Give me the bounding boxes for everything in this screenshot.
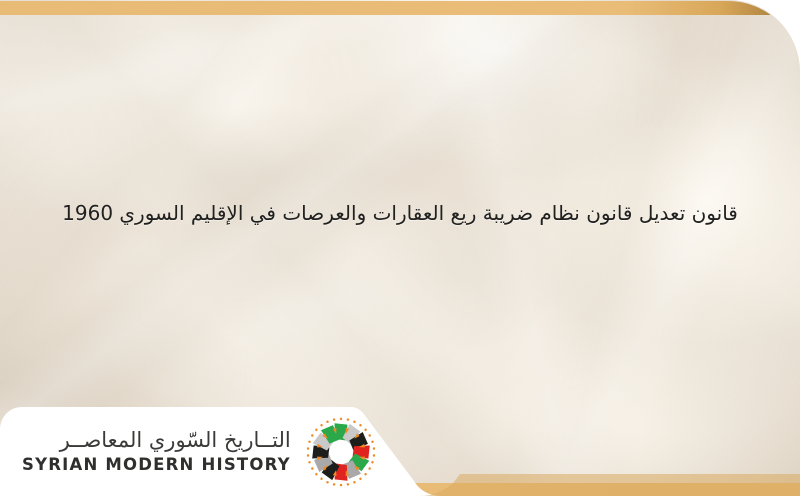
footer-gold-sweep [420,474,800,496]
brand-lockup: التــاريخ السّوري المعاصــر SYRIAN MODER… [22,428,291,475]
footer-content: التــاريخ السّوري المعاصــر SYRIAN MODER… [0,407,420,496]
brand-name-english: SYRIAN MODERN HISTORY [22,455,291,475]
banner-card: قانون تعديل قانون نظام ضريبة ريع العقارا… [0,0,800,496]
rosette-emblem-icon [305,416,377,488]
brand-name-arabic: التــاريخ السّوري المعاصــر [60,428,291,453]
top-gold-bar [0,0,800,14]
document-title: قانون تعديل قانون نظام ضريبة ريع العقارا… [0,198,800,228]
